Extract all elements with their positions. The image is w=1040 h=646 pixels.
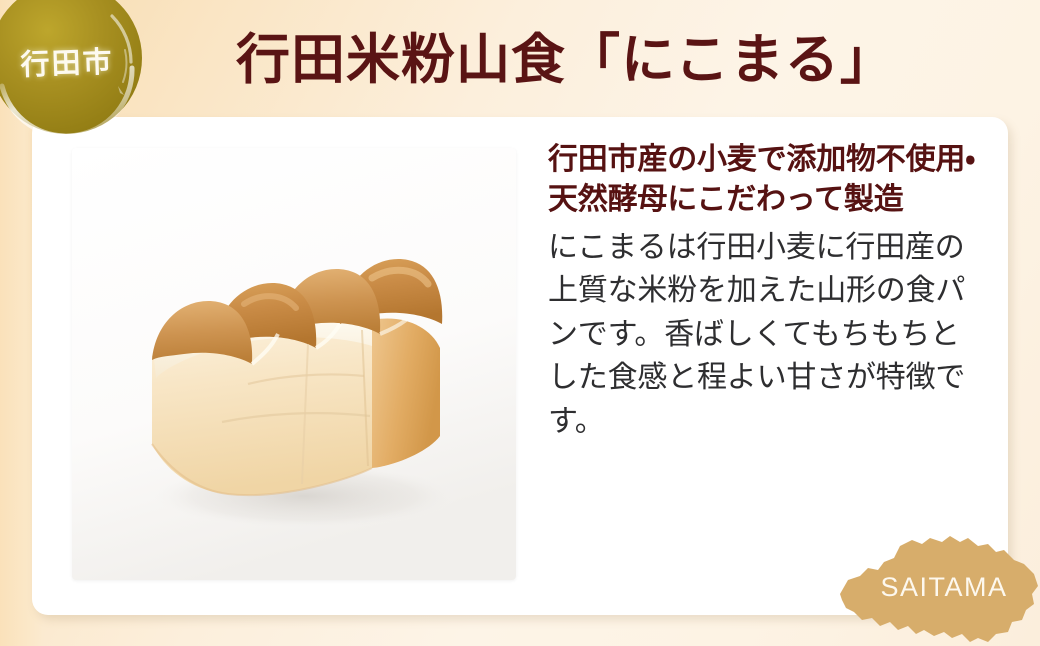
city-seal-badge: 行田市 xyxy=(0,0,152,142)
bread-loaf-photo-icon xyxy=(72,148,516,580)
description-body: にこまるは行田小麦に行田産の上質な米粉を加えた山形の食パンです。香ばしくてもちも… xyxy=(548,226,988,444)
region-badge: SAITAMA xyxy=(838,528,1040,646)
description-block: 行田市産の小麦で添加物不使用・天然酵母にこだわって製造 にこまるは行田小麦に行田… xyxy=(548,140,988,443)
product-photo xyxy=(72,148,516,580)
gold-circle-brush-seal-icon xyxy=(0,0,152,142)
page-title: 行田米粉山食「にこまる」 xyxy=(236,18,936,102)
description-lead: 行田市産の小麦で添加物不使用・天然酵母にこだわって製造 xyxy=(548,140,988,220)
poster-canvas: 行田米粉山食「にこまる」 xyxy=(0,0,1040,646)
saitama-prefecture-map-icon xyxy=(838,528,1040,646)
